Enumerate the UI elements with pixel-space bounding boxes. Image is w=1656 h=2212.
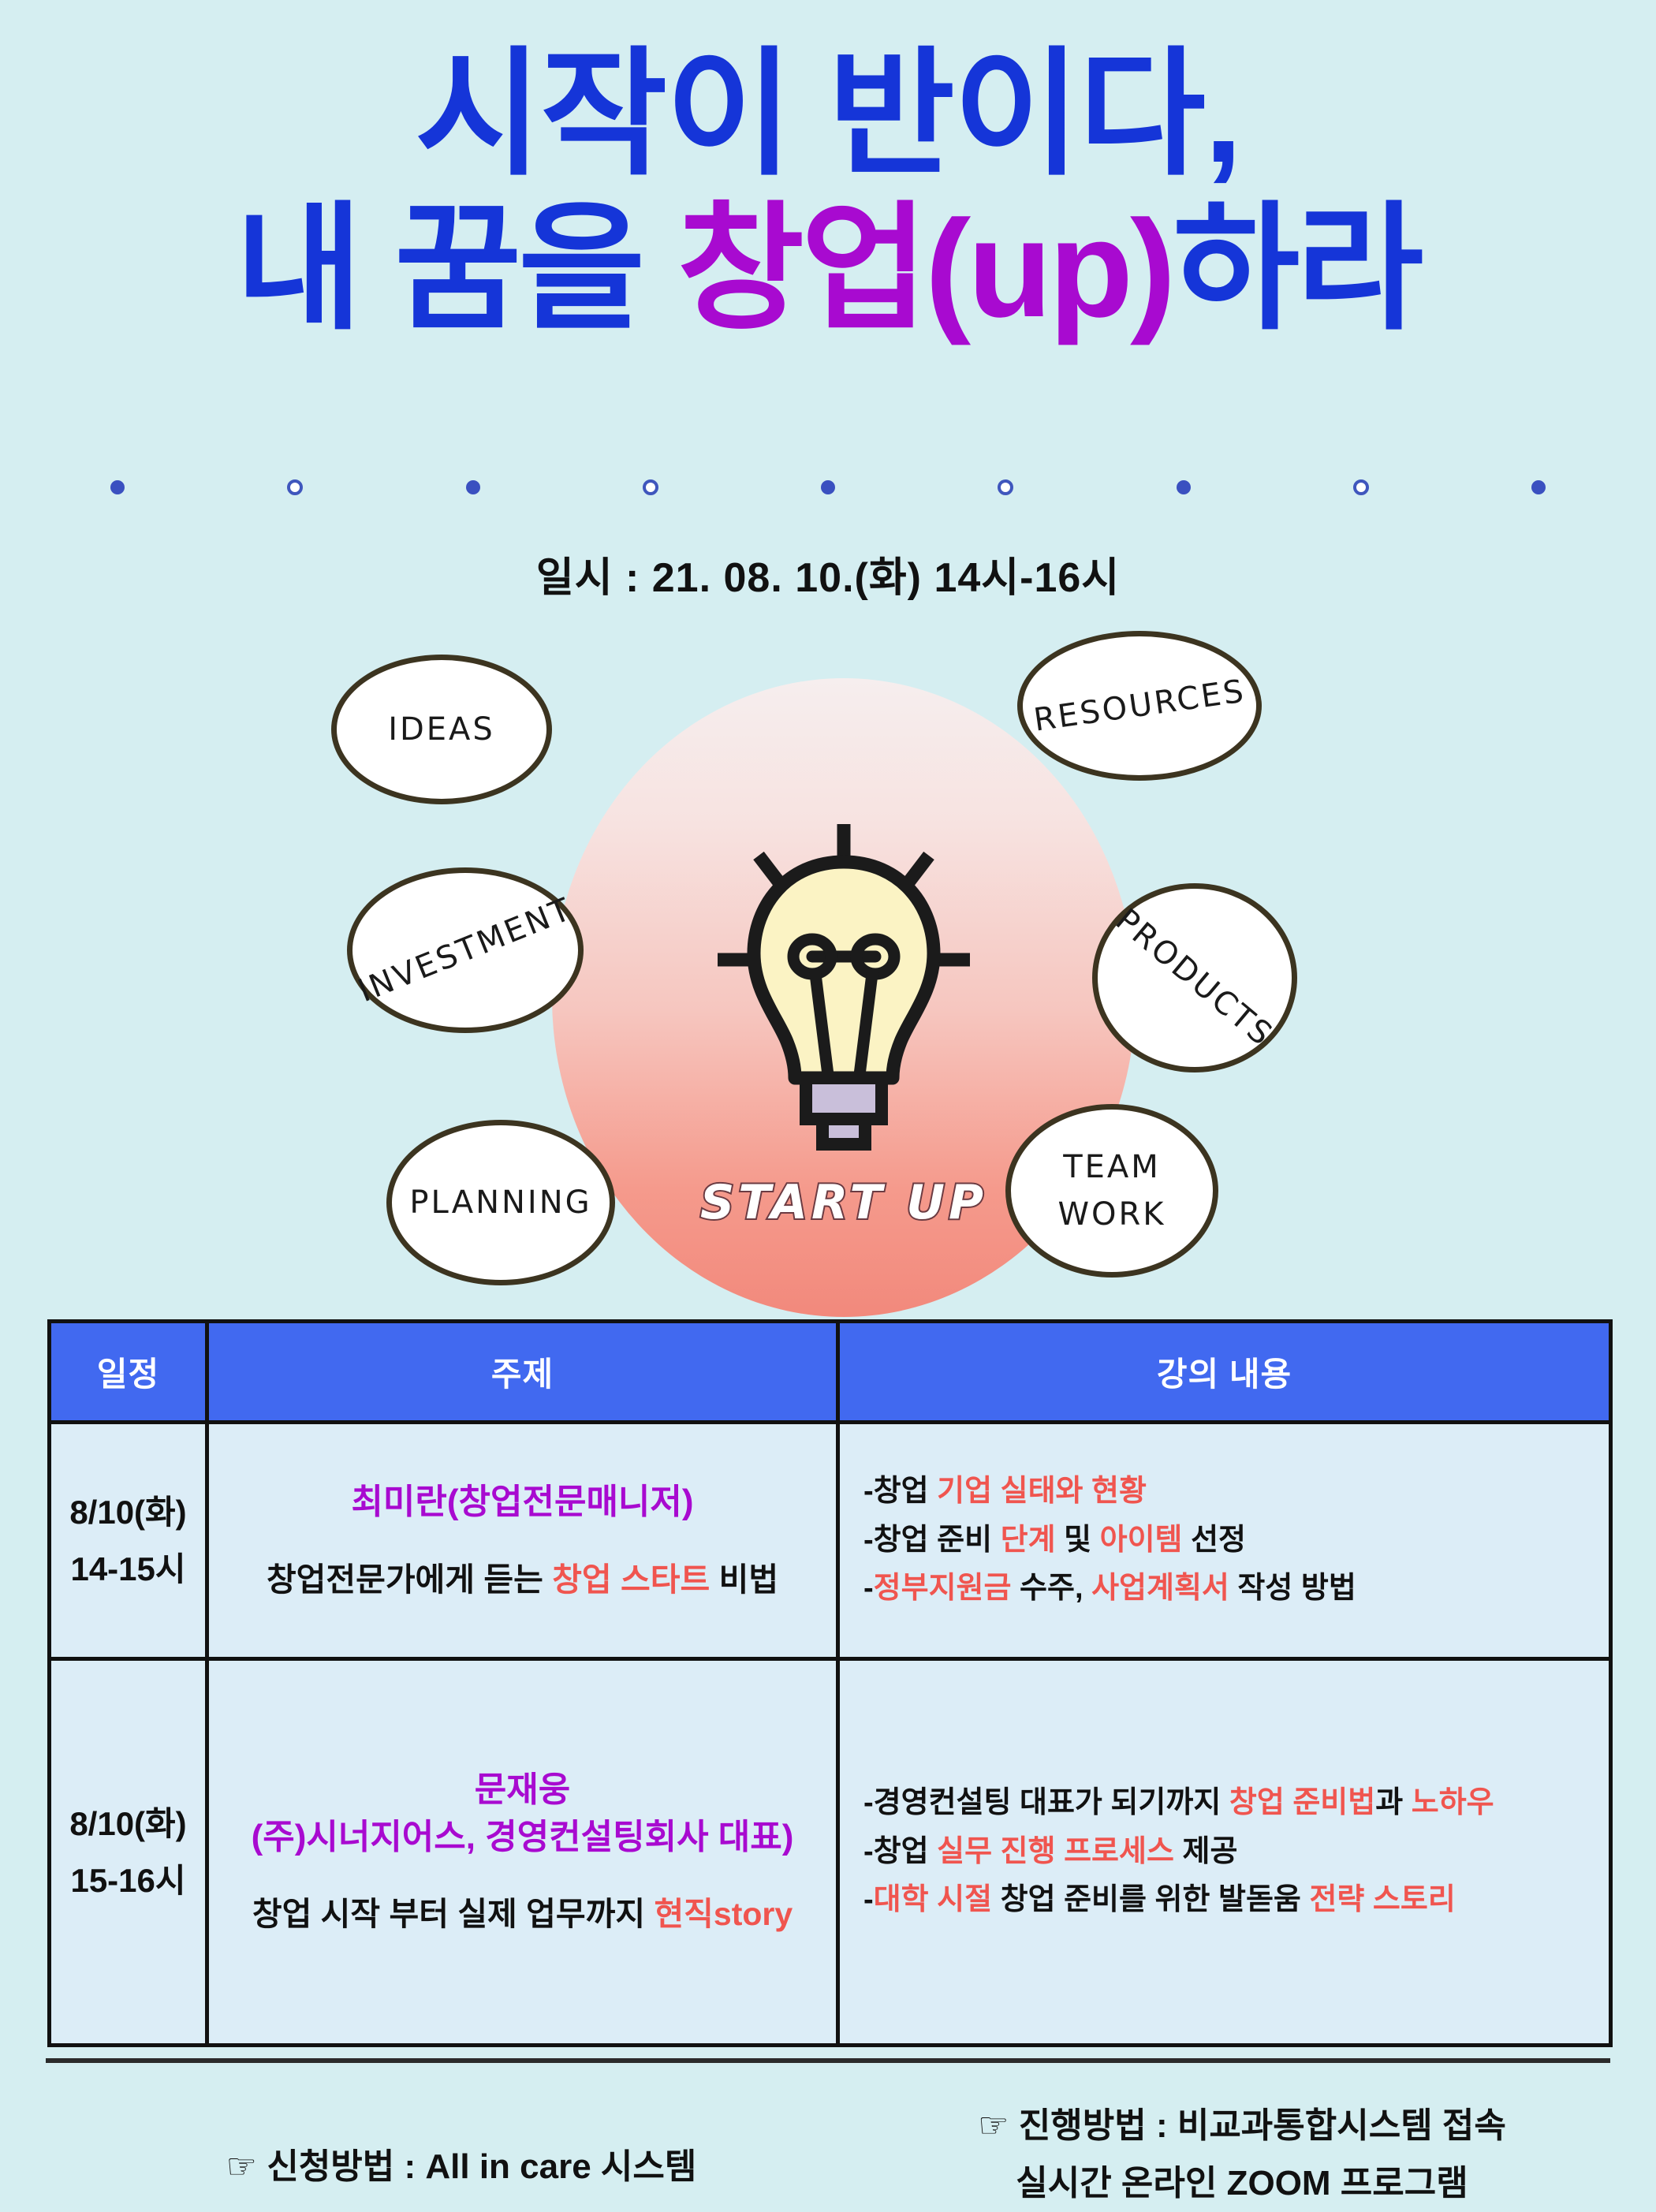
- footer-delivery-text-1: 진행방법 : 비교과통합시스템 접속: [1019, 2106, 1506, 2145]
- header-content: 강의 내용: [838, 1322, 1611, 1423]
- detail-seg-hl: 창업 준비법: [1229, 1786, 1375, 1819]
- cell-detail-1: -창업 기업 실태와 현황 -창업 준비 단계 및 아이템 선정 -정부지원금 …: [838, 1423, 1611, 1659]
- detail-seg: -: [863, 1883, 874, 1916]
- bubble-ideas: IDEAS: [331, 655, 552, 804]
- topic-speaker-name-2: 문재웅: [226, 1766, 819, 1813]
- detail-line: -정부지원금 수주, 사업계획서 작성 방법: [863, 1565, 1593, 1613]
- detail-seg-hl: 대학 시절: [874, 1883, 992, 1916]
- poster-title: 시작이 반이다, 내 꿈을 창업(up)하라: [0, 38, 1656, 347]
- footer-apply-text: 신청방법 : All in care 시스템: [267, 2147, 696, 2186]
- bubble-investment-label: INVESTMENT: [353, 891, 578, 1010]
- dot-filled-icon: [821, 480, 835, 494]
- dot-hollow-icon: [287, 479, 303, 495]
- footer-delivery-method: ☞ 진행방법 : 비교과통합시스템 접속 실시간 온라인 ZOOM 프로그램: [875, 2098, 1609, 2212]
- dot-filled-icon: [466, 480, 480, 494]
- topic-sub-post-1: 비법: [710, 1561, 778, 1598]
- detail-seg: -창업: [863, 1475, 937, 1508]
- table-row: 8/10(화) 15-16시 문재웅 (주)시너지어스, 경영컨설팅회사 대표)…: [50, 1659, 1611, 2046]
- footer-divider: [46, 2058, 1610, 2063]
- bubble-investment: INVESTMENT: [347, 867, 584, 1033]
- detail-line: -대학 시절 창업 준비를 위한 발돋움 전략 스토리: [863, 1876, 1593, 1925]
- detail-seg: 및: [1056, 1524, 1100, 1557]
- footer-delivery-line-2: 실시간 온라인 ZOOM 프로그램: [875, 2155, 1609, 2212]
- footer-apply-method: ☞ 신청방법 : All in care 시스템: [47, 2098, 875, 2196]
- title-line-2-pre: 내 꿈을: [236, 192, 677, 346]
- detail-seg-hl: 전략 스토리: [1309, 1883, 1455, 1916]
- bubble-products: PRODUCTS: [1092, 883, 1297, 1072]
- cell-when-2: 8/10(화) 15-16시: [50, 1659, 207, 2046]
- header-schedule: 일정: [50, 1322, 207, 1423]
- title-line-2-post: 하라: [1173, 192, 1420, 346]
- detail-seg: 수주,: [1011, 1572, 1091, 1605]
- dot-filled-icon: [110, 480, 125, 494]
- pointing-hand-icon: ☞: [978, 2106, 1009, 2146]
- table-row: 8/10(화) 14-15시 최미란(창업전문매니저) 창업전문가에게 듣는 창…: [50, 1423, 1611, 1659]
- schedule-table: 일정 주제 강의 내용 8/10(화) 14-15시 최미란(창업전문매니저) …: [47, 1319, 1613, 2047]
- startup-illustration: START UP IDEAS RESOURCES PRODUCTS TEAM W…: [331, 631, 1356, 1309]
- detail-line: -경영컨설팅 대표가 되기까지 창업 준비법과 노하우: [863, 1779, 1593, 1828]
- footer: ☞ 신청방법 : All in care 시스템 ☞ 진행방법 : 비교과통합시…: [47, 2098, 1609, 2212]
- footer-delivery-line-1: ☞ 진행방법 : 비교과통합시스템 접속: [875, 2098, 1609, 2155]
- dot-hollow-icon: [998, 479, 1013, 495]
- when-time-1: 14-15시: [52, 1541, 204, 1597]
- topic-subtitle-2: 창업 시작 부터 실제 업무까지 현직story: [226, 1892, 819, 1937]
- detail-seg: 선정: [1183, 1524, 1246, 1557]
- cell-topic-1: 최미란(창업전문매니저) 창업전문가에게 듣는 창업 스타트 비법: [207, 1423, 838, 1659]
- event-date-line: 일시 : 21. 08. 10.(화) 14시-16시: [0, 544, 1656, 603]
- detail-seg: -창업: [863, 1835, 937, 1868]
- header-topic: 주제: [207, 1322, 838, 1423]
- dot-filled-icon: [1177, 480, 1191, 494]
- detail-seg-hl: 단계: [1001, 1524, 1056, 1557]
- title-line-2: 내 꿈을 창업(up)하라: [0, 192, 1656, 347]
- dot-hollow-icon: [1353, 479, 1369, 495]
- when-date-2: 8/10(화): [52, 1796, 204, 1852]
- cell-when-1: 8/10(화) 14-15시: [50, 1423, 207, 1659]
- detail-seg: 과: [1375, 1786, 1412, 1819]
- detail-seg-hl: 아이템: [1100, 1524, 1183, 1557]
- detail-seg: 제공: [1174, 1835, 1237, 1868]
- topic-sub-highlight-2: 현직story: [654, 1896, 793, 1932]
- bubble-products-label: PRODUCTS: [1109, 902, 1280, 1054]
- topic-speaker-org-2: (주)시너지어스, 경영컨설팅회사 대표): [226, 1814, 819, 1860]
- bubble-ideas-label: IDEAS: [388, 711, 495, 748]
- detail-seg-hl: 기업 실태와 현황: [937, 1475, 1147, 1508]
- bubble-resources: RESOURCES: [1017, 631, 1262, 781]
- bubble-teamwork: TEAM WORK: [1005, 1104, 1218, 1278]
- detail-seg: 작성 방법: [1229, 1572, 1356, 1605]
- topic-sub-highlight-1: 창업 스타트: [552, 1561, 710, 1598]
- detail-seg: -: [863, 1572, 874, 1605]
- detail-seg: 창업 준비를 위한 발돋움: [992, 1883, 1309, 1916]
- pointing-hand-icon: ☞: [226, 2147, 257, 2187]
- dot-hollow-icon: [643, 479, 658, 495]
- bubble-planning-label: PLANNING: [409, 1184, 591, 1221]
- detail-line: -창업 기업 실태와 현황: [863, 1468, 1593, 1516]
- topic-sub-pre-2: 창업 시작 부터 실제 업무까지: [252, 1896, 655, 1932]
- when-time-2: 15-16시: [52, 1852, 204, 1908]
- topic-sub-pre-1: 창업전문가에게 듣는: [267, 1561, 552, 1598]
- bubble-planning: PLANNING: [386, 1120, 615, 1285]
- cell-detail-2: -경영컨설팅 대표가 되기까지 창업 준비법과 노하우 -창업 실무 진행 프로…: [838, 1659, 1611, 2046]
- cell-topic-2: 문재웅 (주)시너지어스, 경영컨설팅회사 대표) 창업 시작 부터 실제 업무…: [207, 1659, 838, 2046]
- detail-seg: -창업 준비: [863, 1524, 1001, 1557]
- detail-seg-hl: 정부지원금: [874, 1572, 1012, 1605]
- detail-seg-hl: 사업계획서: [1091, 1572, 1229, 1605]
- detail-seg-hl: 노하우: [1412, 1786, 1494, 1819]
- table-header-row: 일정 주제 강의 내용: [50, 1322, 1611, 1423]
- topic-speaker-2: 문재웅 (주)시너지어스, 경영컨설팅회사 대표): [226, 1766, 819, 1860]
- bubble-teamwork-label: TEAM WORK: [1057, 1143, 1166, 1238]
- detail-seg-hl: 실무 진행 프로세스: [937, 1835, 1174, 1868]
- bubble-resources-label: RESOURCES: [1031, 673, 1248, 738]
- topic-subtitle-1: 창업전문가에게 듣는 창업 스타트 비법: [226, 1557, 819, 1602]
- decorative-dot-row: [110, 479, 1546, 495]
- detail-seg: -경영컨설팅 대표가 되기까지: [863, 1786, 1229, 1819]
- detail-line: -창업 실무 진행 프로세스 제공: [863, 1828, 1593, 1877]
- lightbulb-icon: [718, 824, 970, 1155]
- detail-line: -창업 준비 단계 및 아이템 선정: [863, 1516, 1593, 1565]
- topic-speaker-1: 최미란(창업전문매니저): [226, 1479, 819, 1525]
- title-accent-changeop: 창업(up): [677, 192, 1173, 346]
- dot-filled-icon: [1531, 480, 1546, 494]
- title-line-1: 시작이 반이다,: [0, 38, 1656, 192]
- when-date-1: 8/10(화): [52, 1484, 204, 1540]
